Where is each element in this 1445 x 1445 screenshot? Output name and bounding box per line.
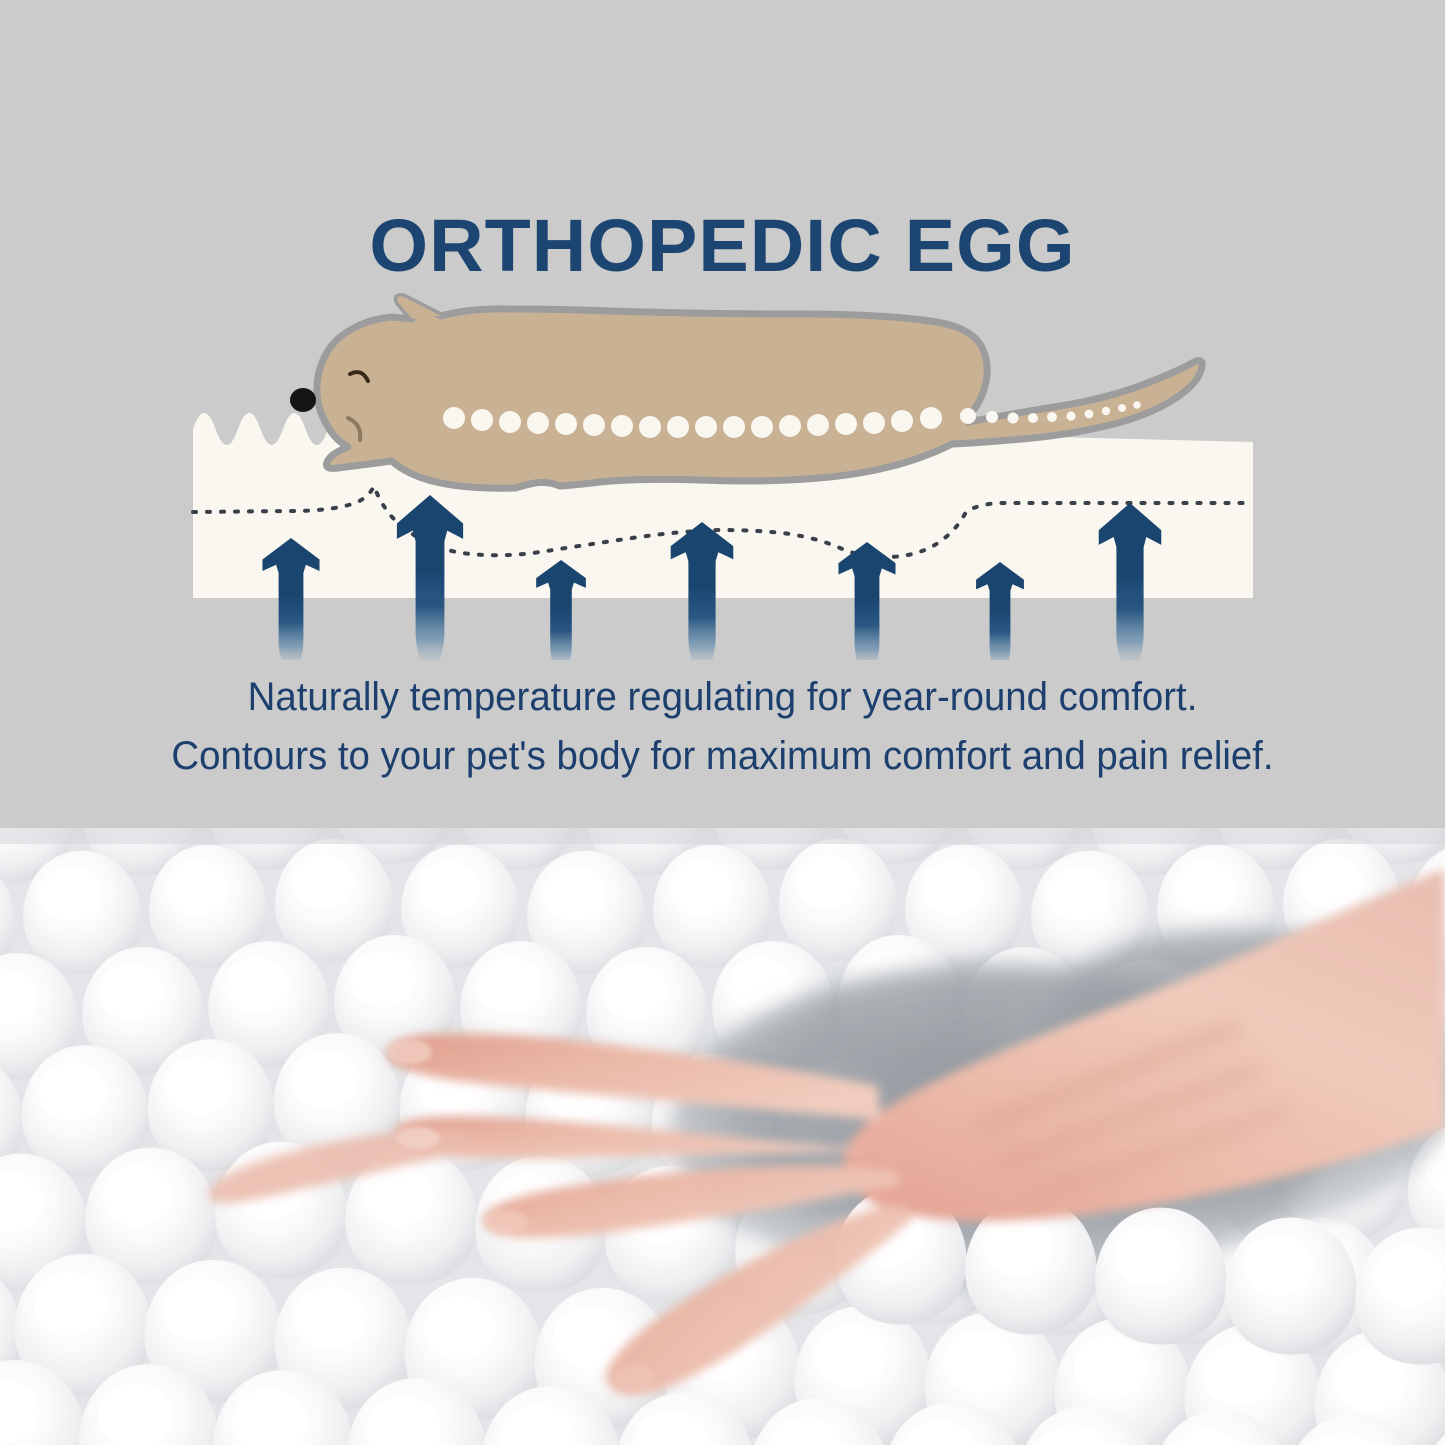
support-arrow xyxy=(262,538,319,660)
foam-photo xyxy=(0,828,1445,1445)
info-panel: ORTHOPEDIC EGG CRATE FOAM xyxy=(0,0,1445,828)
photo-top-blend xyxy=(0,828,1445,844)
support-arrow xyxy=(976,562,1024,660)
support-arrow xyxy=(838,542,895,660)
product-infographic: ORTHOPEDIC EGG CRATE FOAM xyxy=(0,0,1445,1445)
caption-line-1: Naturally temperature regulating for yea… xyxy=(29,668,1416,727)
headline-line-1: ORTHOPEDIC EGG xyxy=(0,203,1445,288)
caption-line-2: Contours to your pet's body for maximum … xyxy=(29,727,1416,786)
dog-on-foam-illustration xyxy=(0,290,1445,660)
dog-nose xyxy=(290,388,316,412)
support-arrow xyxy=(536,560,586,660)
caption-block: Naturally temperature regulating for yea… xyxy=(0,668,1445,786)
hand-pressing-foam-image xyxy=(0,828,1445,1445)
